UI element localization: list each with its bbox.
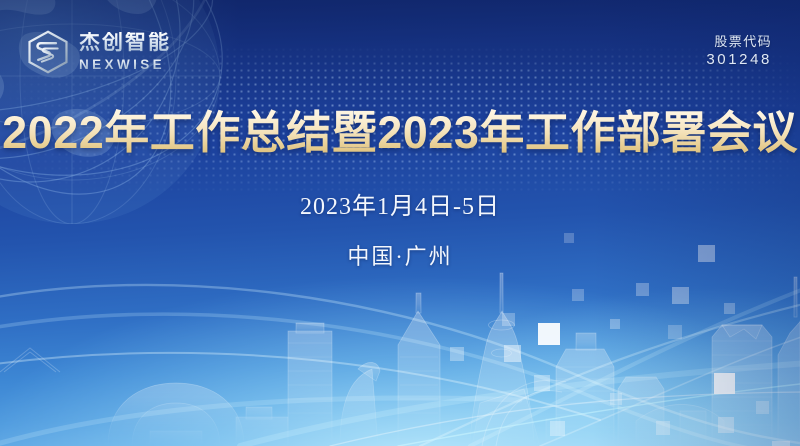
brand-lockup: 杰创智能 NEXWISE bbox=[26, 30, 171, 74]
event-location: 中国·广州 bbox=[0, 239, 800, 271]
brand-name-en: NEXWISE bbox=[79, 58, 171, 72]
brand-name-cn: 杰创智能 bbox=[79, 32, 171, 53]
scattered-squares bbox=[460, 255, 800, 446]
event-date: 2023年1月4日-5日 bbox=[0, 186, 800, 221]
event-meta: 2023年1月4日-5日 中国·广州 bbox=[0, 186, 800, 271]
stock-code-value: 301248 bbox=[706, 50, 772, 70]
stock-code-block: 股票代码 301248 bbox=[706, 33, 772, 70]
page-title: 2022年工作总结暨2023年工作部署会议 bbox=[0, 96, 800, 161]
stock-code-label: 股票代码 bbox=[706, 33, 772, 50]
hexagon-cube-logo-icon bbox=[26, 30, 70, 74]
conference-poster: 杰创智能 NEXWISE 股票代码 301248 2022年工作总结暨2023年… bbox=[0, 0, 800, 446]
